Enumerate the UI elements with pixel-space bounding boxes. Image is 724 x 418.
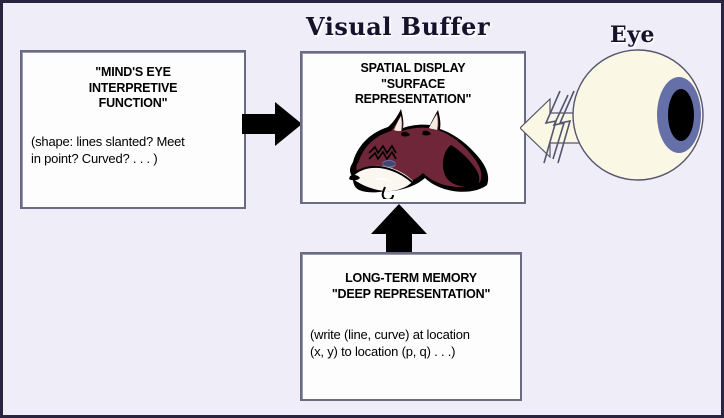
eye-title: Eye	[610, 22, 655, 48]
long-term-memory-deep-representation-box: LONG-TERM MEMORY "DEEP REPRESENTATION" (…	[300, 252, 522, 401]
long-term-memory-heading-line-1: LONG-TERM MEMORY	[302, 271, 520, 287]
spatial-display-heading: SPATIAL DISPLAY "SURFACE REPRESENTATION"	[302, 61, 524, 108]
spatial-display-heading-line-2: "SURFACE	[302, 77, 524, 93]
mind-eye-interpretive-function-box: "MIND'S EYE INTERPRETIVE FUNCTION" (shap…	[20, 50, 246, 209]
mind-eye-heading-line-2: INTERPRETIVE	[22, 81, 244, 97]
long-term-memory-body: (write (line, curve) at location (x, y) …	[302, 326, 520, 360]
long-term-memory-body-line-1: (write (line, curve) at location	[310, 326, 512, 343]
mind-eye-heading: "MIND'S EYE INTERPRETIVE FUNCTION"	[22, 65, 244, 112]
visual-buffer-title: Visual Buffer	[306, 12, 490, 41]
mind-eye-heading-line-3: FUNCTION"	[22, 96, 244, 112]
fox-head-illustration	[333, 107, 493, 199]
mind-eye-heading-line-1: "MIND'S EYE	[22, 65, 244, 81]
eye-pupil	[668, 89, 694, 141]
mind-eye-body-line-2: in point? Curved? . . . )	[31, 150, 235, 167]
mind-eye-body: (shape: lines slanted? Meet in point? Cu…	[22, 133, 244, 167]
long-term-memory-body-line-2: (x, y) to location (p, q) . . .)	[310, 343, 512, 360]
mind-eye-body-line-1: (shape: lines slanted? Meet	[31, 133, 235, 150]
eye-illustration	[571, 48, 705, 182]
long-term-memory-heading-line-2: "DEEP REPRESENTATION"	[302, 287, 520, 303]
long-term-memory-heading: LONG-TERM MEMORY "DEEP REPRESENTATION"	[302, 271, 520, 302]
diagram-canvas: Visual Buffer Eye "MIND'S EYE INTERPRETI…	[0, 0, 724, 418]
spatial-display-heading-line-3: REPRESENTATION"	[302, 92, 524, 108]
up-arrow-icon	[371, 204, 427, 256]
right-arrow-icon	[242, 102, 302, 146]
spatial-display-heading-line-1: SPATIAL DISPLAY	[302, 61, 524, 77]
